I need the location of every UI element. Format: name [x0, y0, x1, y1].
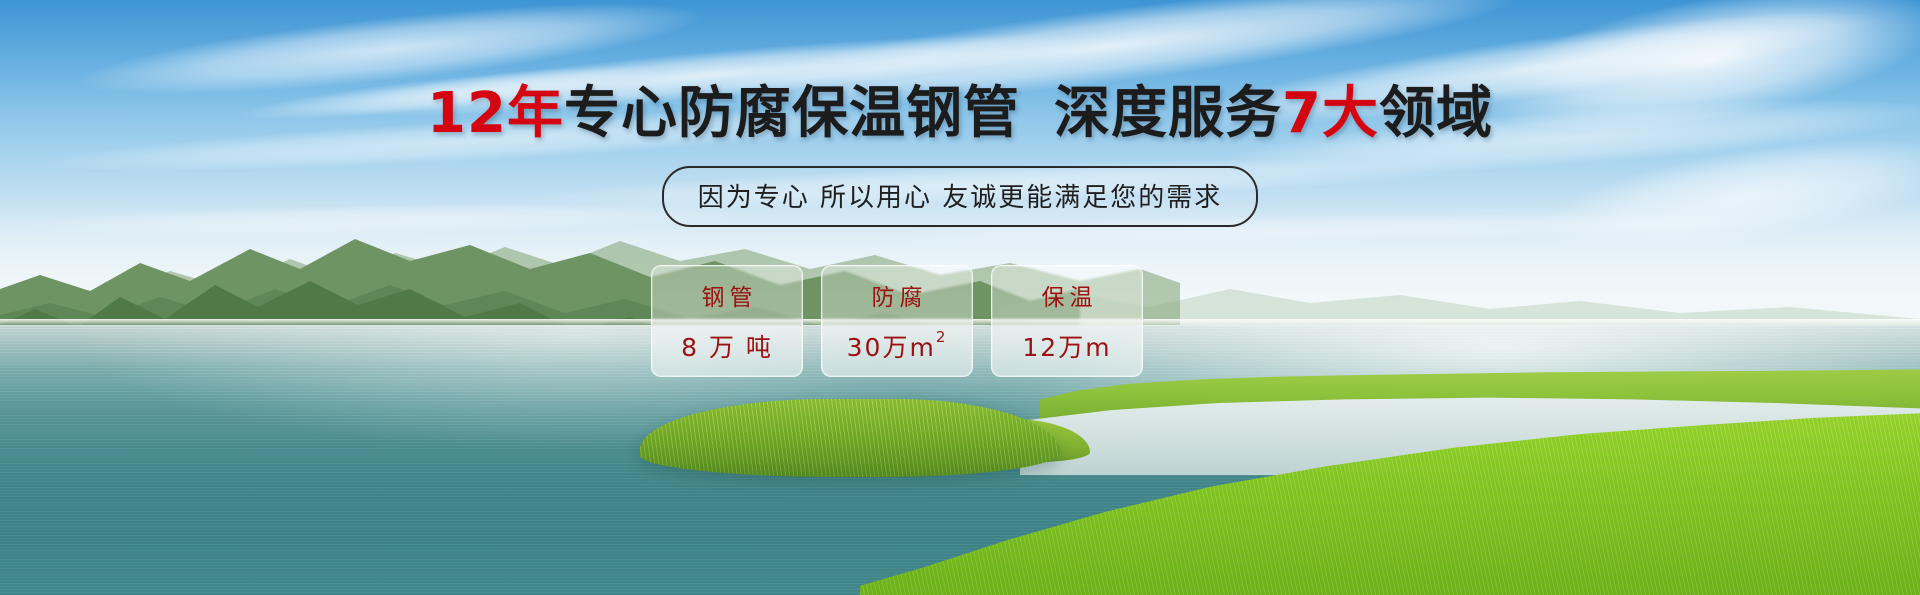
headline-segment-fields-word: 领域 [1379, 81, 1493, 146]
stat-card-group: 钢管 8 万 吨 防腐 30万m2 保温 12万m [651, 265, 1143, 377]
headline-segment-years-number: 12 [427, 81, 507, 146]
promo-banner: 12年专心防腐保温钢管深度服务7大领域 因为专心 所以用心 友诚更能满足您的需求… [0, 0, 1920, 595]
stat-card-value: 12万m [1022, 328, 1111, 364]
stat-card-value: 8 万 吨 [681, 328, 773, 364]
grass-island-texture [640, 399, 1060, 477]
stat-card-value-text: 30万m [847, 328, 936, 364]
stat-card-insulation[interactable]: 保温 12万m [991, 265, 1143, 377]
headline-segment-fields-number: 7 [1282, 81, 1322, 146]
stat-card-steel-pipe[interactable]: 钢管 8 万 吨 [651, 265, 803, 377]
stat-card-value-text: 12万m [1022, 328, 1111, 364]
stat-card-label: 防腐 [867, 278, 928, 312]
headline-segment-service: 深度服务 [1054, 81, 1282, 146]
stat-card-label: 保温 [1037, 278, 1098, 312]
banner-headline: 12年专心防腐保温钢管深度服务7大领域 [0, 86, 1920, 142]
stat-card-value-text: 8 万 吨 [681, 328, 773, 364]
headline-segment-fields-big: 大 [1322, 81, 1379, 146]
banner-subtitle: 因为专心 所以用心 友诚更能满足您的需求 [662, 166, 1259, 227]
stat-card-value-superscript: 2 [936, 330, 948, 345]
stat-card-anticorrosion[interactable]: 防腐 30万m2 [821, 265, 973, 377]
headline-segment-years-unit: 年 [507, 81, 564, 146]
stat-card-value: 30万m2 [847, 328, 948, 364]
headline-segment-focus: 专心防腐保温钢管 [564, 81, 1020, 146]
stat-card-label: 钢管 [697, 278, 758, 312]
banner-subtitle-wrap: 因为专心 所以用心 友诚更能满足您的需求 [0, 166, 1920, 227]
